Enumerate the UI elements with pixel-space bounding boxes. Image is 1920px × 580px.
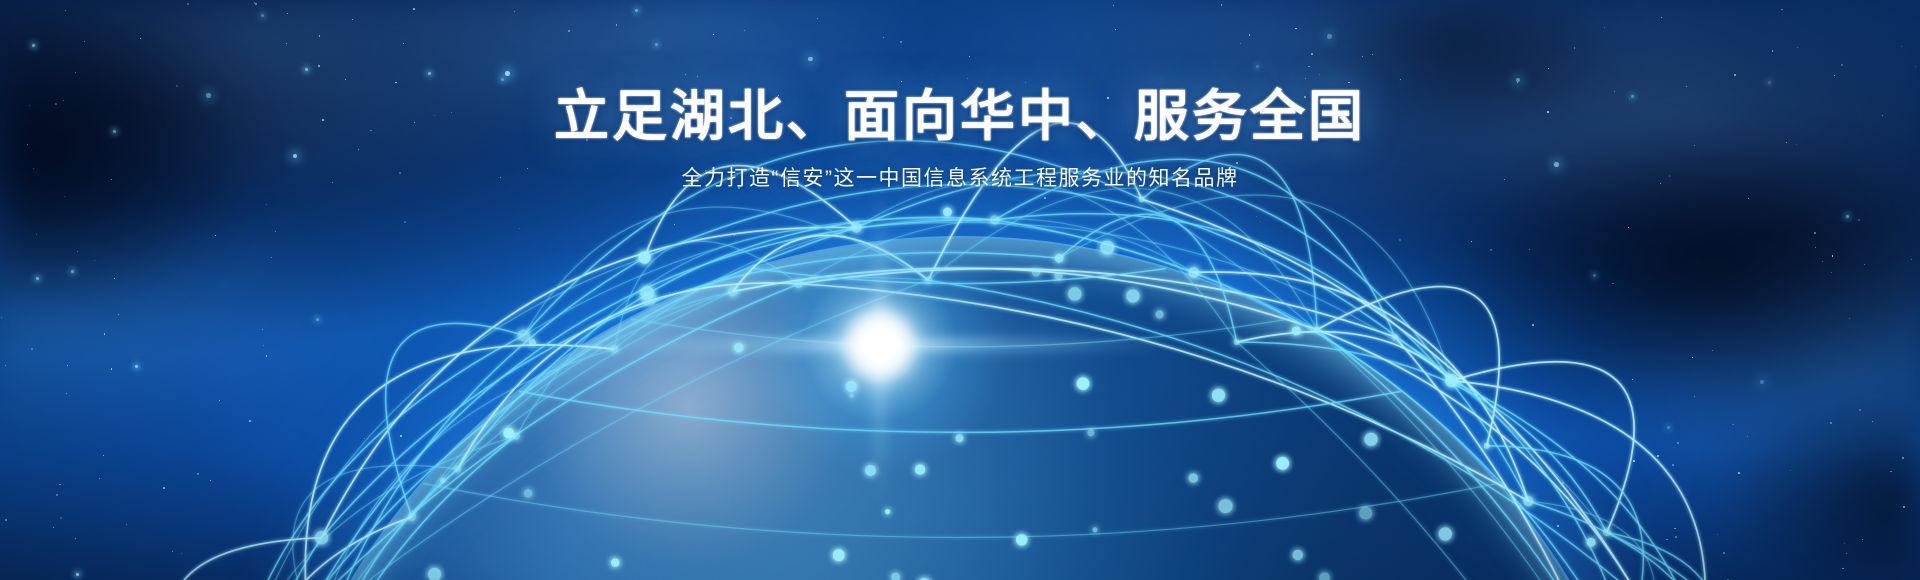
star	[103, 455, 104, 456]
star	[1674, 528, 1675, 529]
star	[262, 329, 263, 330]
star	[705, 399, 706, 400]
network-arc	[322, 252, 1060, 537]
star	[1031, 563, 1032, 564]
star	[1723, 552, 1725, 554]
network-arc	[1528, 501, 1656, 580]
network-node	[1364, 433, 1377, 446]
network-arc	[1317, 330, 1639, 580]
star	[1748, 198, 1749, 199]
banner-tagline: 全力打造“信安”这一中国信息系统工程服务业的知名品牌	[0, 164, 1920, 193]
globe-shadow	[250, 238, 1670, 580]
star	[1747, 436, 1748, 437]
star	[56, 494, 58, 496]
star	[1666, 539, 1667, 540]
star	[1903, 506, 1905, 508]
star	[404, 221, 406, 223]
star	[894, 572, 896, 574]
star	[1846, 215, 1849, 218]
network-arc	[1317, 287, 1499, 446]
star	[934, 371, 935, 372]
network-arc	[1528, 501, 1724, 580]
star	[434, 485, 436, 487]
network-arc	[516, 227, 856, 436]
network-node	[956, 434, 964, 442]
star	[197, 473, 199, 475]
star	[1677, 442, 1679, 444]
star	[1667, 426, 1670, 429]
network-arc	[1142, 199, 1640, 580]
star	[775, 447, 776, 448]
star	[76, 573, 79, 576]
network-node	[315, 531, 328, 544]
network-node	[865, 465, 876, 476]
star	[1145, 216, 1146, 217]
star	[1484, 540, 1485, 541]
network-node	[885, 509, 890, 514]
network-node	[1603, 528, 1611, 536]
network-arc	[225, 436, 517, 580]
light-burst	[880, 345, 882, 347]
network-node	[1055, 254, 1064, 263]
network-arc	[754, 269, 1166, 284]
star	[94, 260, 95, 261]
star	[1103, 286, 1104, 287]
star	[1675, 536, 1677, 538]
network-arc	[276, 258, 645, 580]
star	[163, 487, 165, 489]
network-node	[529, 339, 536, 346]
network-node	[1292, 326, 1301, 335]
star	[1256, 216, 1257, 217]
network-arc	[733, 235, 928, 291]
network-node	[1139, 196, 1145, 202]
network-node	[943, 208, 952, 217]
star	[1471, 241, 1472, 242]
star	[1399, 239, 1401, 241]
network-arc	[225, 258, 645, 580]
star	[1044, 197, 1046, 199]
star	[1314, 382, 1316, 384]
star	[104, 333, 105, 334]
star	[364, 438, 365, 439]
star	[219, 400, 220, 401]
star	[5, 365, 6, 366]
network-arc	[212, 335, 524, 580]
network-arc	[304, 349, 614, 580]
network-arc	[260, 280, 928, 580]
star	[99, 478, 100, 479]
network-arc	[856, 222, 1606, 532]
star	[77, 251, 78, 252]
network-arc	[1607, 532, 1719, 580]
burst-core	[750, 215, 1010, 475]
network-arc	[1142, 199, 1673, 580]
network-node	[1445, 374, 1458, 387]
globe-atmosphere	[248, 236, 1672, 580]
network-arc	[856, 180, 1236, 342]
star	[746, 460, 747, 461]
star	[53, 527, 54, 528]
network-arc	[1237, 332, 1452, 381]
star	[181, 553, 182, 554]
network-node	[1212, 389, 1225, 402]
network-node	[1319, 572, 1330, 580]
star	[1815, 247, 1816, 248]
star	[1830, 422, 1832, 424]
star	[539, 529, 541, 531]
network-arc	[1607, 532, 1773, 580]
star	[1562, 482, 1564, 484]
network-arc	[275, 436, 516, 580]
star	[1512, 556, 1513, 557]
network-arc	[260, 517, 412, 580]
star	[31, 348, 33, 350]
star	[36, 234, 37, 235]
network-node	[611, 558, 619, 566]
star	[1858, 219, 1860, 221]
star	[1612, 283, 1613, 284]
network-node	[925, 277, 932, 284]
network-node	[915, 464, 925, 474]
network-arc	[322, 227, 857, 537]
star	[266, 204, 267, 205]
star	[1593, 274, 1596, 277]
network-node	[640, 286, 654, 300]
network-arc	[423, 484, 1497, 538]
star	[1072, 429, 1073, 430]
star	[1306, 432, 1308, 434]
burst-horizontal-flare	[580, 332, 1180, 358]
network-node	[1093, 527, 1098, 532]
star	[1846, 553, 1847, 554]
star	[669, 292, 670, 293]
star	[819, 316, 820, 317]
star	[266, 355, 267, 356]
star	[955, 374, 958, 377]
network-arc	[1059, 214, 1237, 342]
star	[1340, 469, 1343, 472]
network-node	[728, 287, 738, 297]
star	[1, 317, 2, 318]
star	[1628, 227, 1629, 228]
star	[111, 368, 112, 369]
network-arc	[733, 268, 1317, 329]
network-arc	[524, 219, 1317, 336]
star	[671, 528, 674, 531]
star	[135, 365, 138, 368]
network-arc	[1237, 342, 1688, 580]
star	[734, 235, 735, 236]
star	[1153, 342, 1154, 343]
star	[1694, 396, 1695, 397]
network-arc	[928, 280, 1639, 580]
network-node	[638, 251, 650, 263]
network-node	[1439, 527, 1452, 540]
network-arc	[307, 469, 458, 580]
star	[1532, 324, 1534, 326]
star	[1738, 472, 1740, 474]
star	[1633, 460, 1635, 462]
star	[316, 318, 319, 321]
network-arc	[248, 538, 322, 580]
network-arc	[1194, 272, 1529, 501]
network-arc	[1452, 362, 1634, 533]
network-node	[408, 513, 416, 521]
network-arc	[305, 345, 614, 580]
star	[1692, 357, 1693, 358]
star	[59, 484, 60, 485]
star	[1911, 259, 1912, 260]
network-arc	[1487, 446, 1644, 580]
star	[1336, 572, 1338, 574]
network-arc	[799, 284, 1528, 501]
star	[1490, 249, 1492, 251]
network-node	[851, 223, 861, 233]
network-node	[990, 215, 999, 224]
network-arc	[799, 219, 1194, 284]
star	[1864, 264, 1865, 265]
star	[664, 506, 667, 509]
network-node	[734, 343, 743, 352]
network-node	[1077, 377, 1090, 390]
network-arc	[928, 188, 1317, 329]
network-node	[1293, 550, 1303, 560]
star	[519, 228, 520, 229]
burst-vertical-flare	[868, 180, 892, 510]
star	[1137, 443, 1139, 445]
network-node	[1068, 287, 1081, 300]
network-arc	[519, 391, 1401, 432]
star	[965, 574, 967, 576]
network-arc	[524, 207, 928, 335]
star	[118, 314, 119, 315]
star	[1902, 457, 1904, 459]
network-arc	[995, 214, 1529, 501]
globe-sphere	[250, 238, 1670, 580]
star	[941, 248, 943, 250]
star	[1842, 568, 1843, 569]
network-arc	[171, 538, 322, 580]
network-node	[1032, 269, 1040, 277]
network-node	[1054, 272, 1062, 280]
star	[1760, 380, 1765, 385]
network-node	[795, 280, 804, 289]
star	[67, 365, 68, 366]
network-node	[454, 465, 461, 472]
star	[271, 257, 272, 258]
star	[1021, 557, 1022, 558]
network-arc	[614, 219, 995, 349]
star	[75, 538, 76, 539]
network-node	[1484, 443, 1490, 449]
network-arc	[645, 185, 1452, 381]
network-node	[1314, 326, 1320, 332]
star	[1672, 464, 1674, 466]
network-arc	[1395, 337, 1637, 580]
hero-banner: 立足湖北、面向华中、服务全国 全力打造“信安”这一中国信息系统工程服务业的知名品…	[0, 0, 1920, 580]
network-node	[846, 381, 857, 392]
star	[1220, 486, 1222, 488]
network-node	[891, 573, 900, 580]
network-node	[642, 292, 657, 307]
network-node	[524, 489, 532, 497]
star	[1832, 255, 1833, 256]
network-node	[833, 549, 845, 561]
star	[1557, 525, 1559, 527]
star	[664, 516, 665, 517]
network-arc	[213, 292, 733, 580]
network-arc	[1452, 381, 1718, 580]
network-arc	[293, 465, 458, 580]
star	[1844, 543, 1845, 544]
star	[1657, 455, 1659, 457]
network-arc	[631, 319, 1289, 347]
star	[215, 235, 216, 236]
page-title: 立足湖北、面向华中、服务全国	[0, 0, 1920, 146]
network-node	[513, 432, 520, 439]
network-node	[1126, 289, 1139, 302]
star	[60, 517, 62, 519]
star	[1814, 232, 1816, 234]
globe-landmasses	[250, 238, 1670, 580]
star	[865, 465, 867, 467]
network-node	[610, 345, 618, 353]
star	[670, 494, 671, 495]
star	[36, 277, 39, 280]
network-node	[1100, 241, 1114, 255]
star	[1020, 455, 1021, 456]
network-node	[1523, 496, 1533, 506]
star	[210, 480, 211, 481]
network-arc	[1059, 195, 1452, 381]
network-node	[1276, 457, 1289, 470]
star	[1014, 426, 1015, 427]
network-node	[1016, 534, 1027, 545]
network-node	[1359, 507, 1372, 520]
star	[66, 393, 67, 394]
network-node	[1156, 310, 1164, 318]
network-node	[1219, 499, 1233, 513]
network-arc	[386, 323, 524, 517]
network-arc	[1317, 330, 1673, 580]
network-arc	[1237, 342, 1607, 532]
star	[172, 551, 173, 552]
star	[1145, 447, 1147, 449]
star	[1712, 350, 1713, 351]
star	[1790, 470, 1791, 471]
network-node	[518, 329, 530, 341]
network-arc	[458, 217, 995, 469]
star	[674, 224, 675, 225]
network-arc	[1452, 381, 1706, 580]
star	[263, 345, 264, 346]
star	[114, 278, 115, 279]
network-arc	[458, 283, 799, 469]
star	[1529, 249, 1530, 250]
star	[1233, 577, 1235, 579]
network-node	[1587, 538, 1596, 547]
star	[1081, 482, 1084, 485]
network-arc	[799, 269, 1395, 337]
star	[1632, 379, 1633, 380]
star	[1849, 318, 1850, 319]
star	[1822, 261, 1823, 262]
star	[1872, 421, 1873, 422]
star	[1859, 409, 1861, 411]
star	[1717, 534, 1718, 535]
star	[1308, 303, 1309, 304]
star	[1732, 424, 1733, 425]
network-arc	[995, 220, 1637, 580]
star	[5, 519, 7, 521]
star	[1890, 471, 1891, 472]
star	[742, 386, 743, 387]
network-node	[850, 394, 855, 399]
network-node	[1189, 267, 1200, 278]
network-globe	[250, 238, 1670, 580]
network-node	[1234, 339, 1240, 345]
network-arc	[412, 278, 928, 517]
network-node	[1189, 473, 1198, 482]
network-arc	[307, 220, 994, 580]
star	[275, 231, 276, 232]
network-arc	[856, 171, 1451, 380]
star	[957, 518, 959, 520]
star	[1831, 272, 1832, 273]
network-node	[428, 568, 441, 580]
network-arc	[307, 284, 799, 580]
star	[126, 524, 127, 525]
network-arc	[614, 241, 799, 349]
network-node	[1087, 429, 1094, 436]
network-node	[1392, 334, 1398, 340]
burst-halo	[846, 311, 914, 379]
star	[1260, 221, 1261, 222]
banner-copy: 立足湖北、面向华中、服务全国 全力打造“信安”这一中国信息系统工程服务业的知名品…	[0, 0, 1920, 193]
network-arc	[1395, 337, 1664, 580]
network-arc	[225, 228, 857, 580]
star	[568, 406, 570, 408]
star	[71, 270, 74, 273]
star	[249, 420, 251, 422]
star	[599, 513, 600, 514]
star	[1484, 371, 1485, 372]
star	[400, 435, 402, 437]
star	[1862, 539, 1863, 540]
star	[64, 196, 65, 197]
network-node	[503, 428, 514, 439]
network-node	[440, 478, 445, 483]
network-arc	[412, 292, 733, 517]
